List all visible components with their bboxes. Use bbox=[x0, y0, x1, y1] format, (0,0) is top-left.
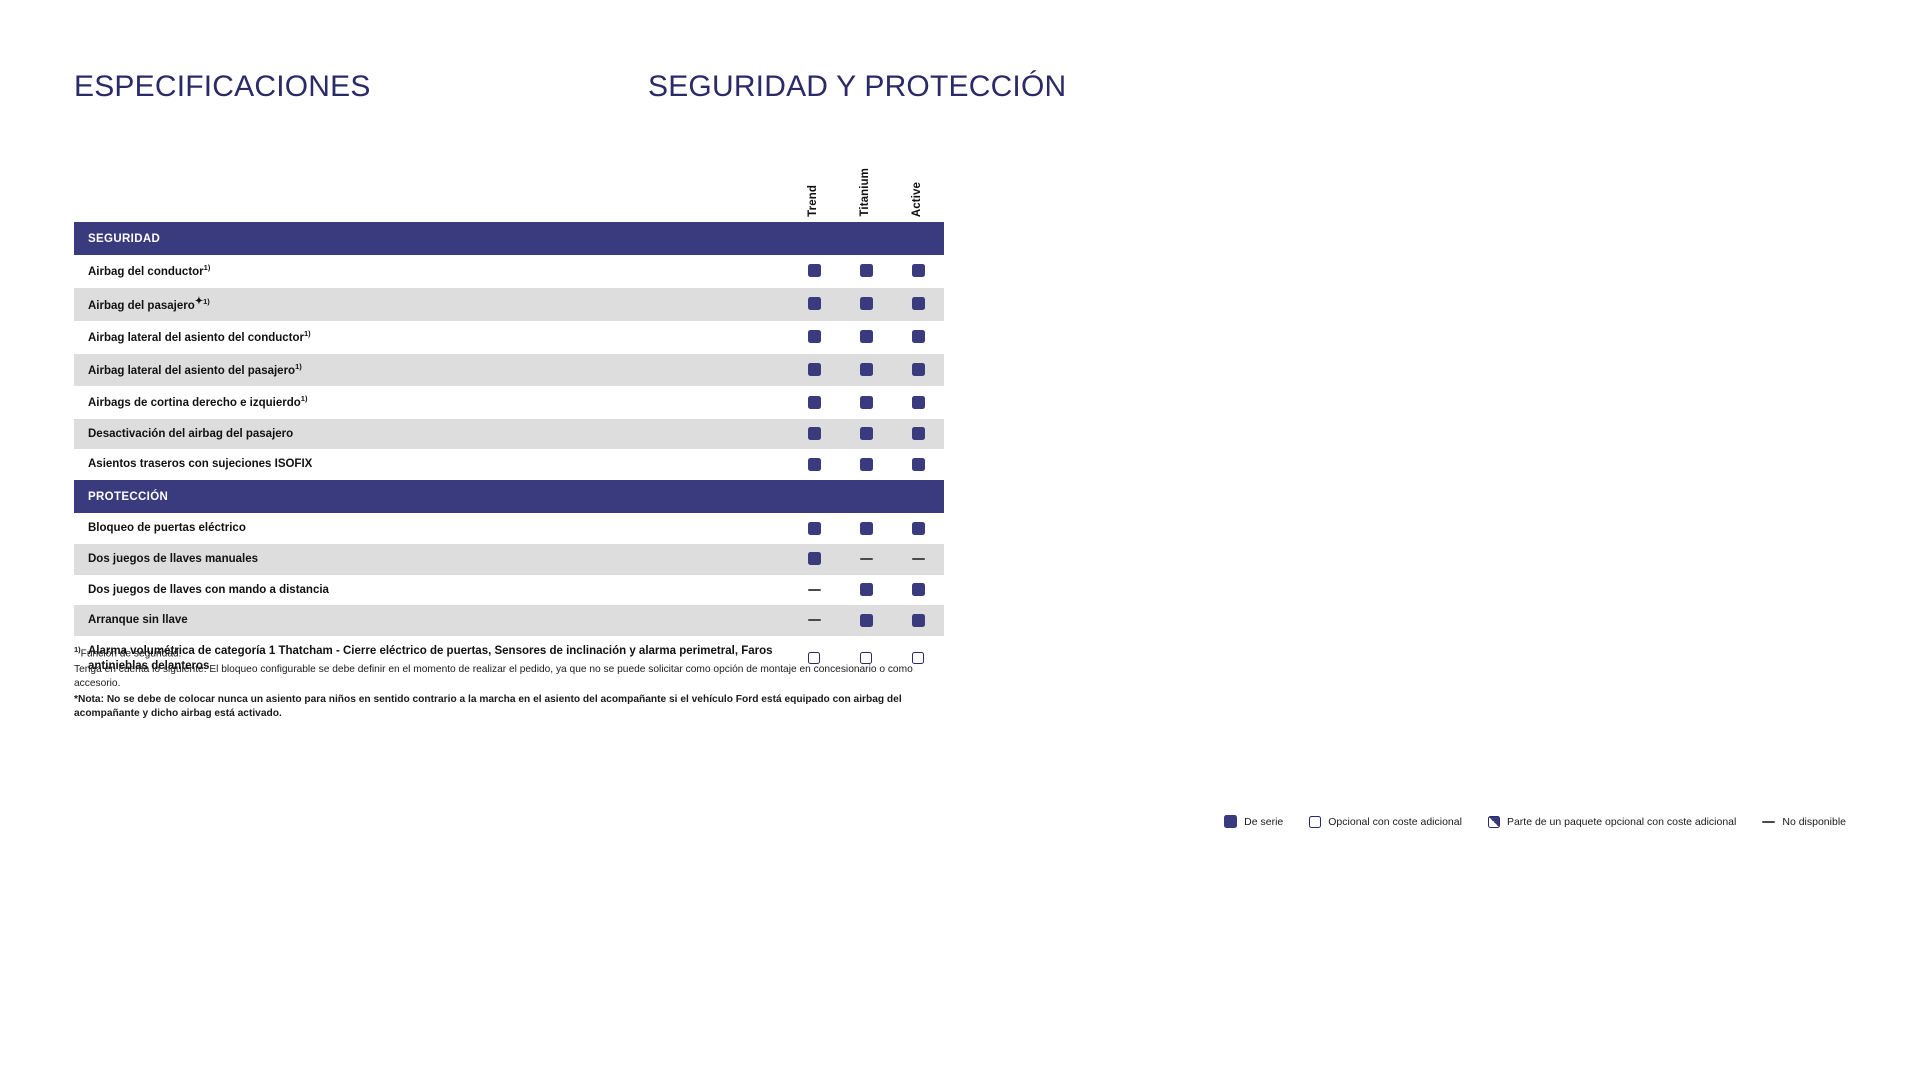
column-label-trend: Trend bbox=[808, 183, 820, 217]
availability-cell bbox=[840, 321, 892, 354]
availability-cell bbox=[788, 354, 840, 387]
availability-cell bbox=[892, 321, 944, 354]
availability-cell bbox=[840, 513, 892, 544]
column-label-titanium: Titanium bbox=[860, 166, 872, 217]
section-header-spacer bbox=[892, 480, 944, 513]
section-header-spacer bbox=[892, 222, 944, 255]
marker-standard-icon bbox=[860, 583, 873, 596]
marker-standard-icon bbox=[912, 614, 925, 627]
trim-column-header: Titanium bbox=[840, 150, 892, 222]
availability-cell bbox=[840, 419, 892, 450]
section-header-spacer bbox=[788, 480, 840, 513]
marker-standard-icon bbox=[808, 458, 821, 471]
availability-cell bbox=[840, 544, 892, 575]
feature-label: Airbag del pasajero✦1) bbox=[74, 288, 788, 322]
section-header-row: SEGURIDAD bbox=[74, 222, 944, 255]
marker-standard-icon bbox=[808, 396, 821, 409]
specification-table: Trend Titanium Active SEGURIDADAirbag de… bbox=[74, 150, 944, 681]
availability-cell bbox=[892, 449, 944, 480]
footnote-child-seat-warning: *Nota: No se debe de colocar nunca un as… bbox=[74, 693, 946, 722]
availability-cell bbox=[892, 605, 944, 636]
marker-standard-icon bbox=[860, 396, 873, 409]
section-header-spacer bbox=[788, 222, 840, 255]
marker-standard-icon bbox=[808, 330, 821, 343]
footnote-ref: 1) bbox=[203, 297, 210, 306]
footnote-configurable-lock: Tenga en cuenta lo siguiente: El bloqueo… bbox=[74, 663, 946, 692]
legend-item: De serie bbox=[1224, 815, 1283, 828]
table-row: Airbag lateral del asiento del pasajero1… bbox=[74, 354, 944, 387]
marker-standard-icon bbox=[912, 264, 925, 277]
marker-standard-icon bbox=[860, 264, 873, 277]
footnote-ref: 1) bbox=[301, 394, 308, 403]
marker-standard-icon bbox=[808, 264, 821, 277]
spec-sheet-page: ESPECIFICACIONES SEGURIDAD Y PROTECCIÓN … bbox=[0, 0, 1920, 1080]
table-head: Trend Titanium Active bbox=[74, 150, 944, 222]
marker-standard-icon bbox=[860, 458, 873, 471]
asterisk-marker: ✦ bbox=[195, 296, 203, 307]
table-row: Desactivación del airbag del pasajero bbox=[74, 419, 944, 450]
marker-standard-icon bbox=[1224, 815, 1237, 828]
availability-cell bbox=[788, 321, 840, 354]
section-header-spacer bbox=[840, 480, 892, 513]
page-title-section: SEGURIDAD Y PROTECCIÓN bbox=[648, 70, 1066, 104]
table-row: Dos juegos de llaves manuales bbox=[74, 544, 944, 575]
legend-item: Parte de un paquete opcional con coste a… bbox=[1488, 816, 1736, 828]
legend-item: Opcional con coste adicional bbox=[1309, 816, 1462, 828]
table-row: Airbag del conductor1) bbox=[74, 255, 944, 288]
availability-cell bbox=[788, 419, 840, 450]
marker-package-icon bbox=[1488, 816, 1500, 828]
feature-label: Airbags de cortina derecho e izquierdo1) bbox=[74, 386, 788, 419]
marker-standard-icon bbox=[912, 363, 925, 376]
availability-cell bbox=[788, 544, 840, 575]
availability-cell bbox=[892, 255, 944, 288]
footnote-ref: 1) bbox=[295, 362, 302, 371]
marker-standard-icon bbox=[912, 522, 925, 535]
legend-label: Parte de un paquete opcional con coste a… bbox=[1507, 816, 1736, 828]
availability-cell bbox=[892, 544, 944, 575]
footnote-ref: 1) bbox=[304, 329, 311, 338]
table-row: Dos juegos de llaves con mando a distanc… bbox=[74, 575, 944, 606]
availability-cell bbox=[892, 575, 944, 606]
marker-standard-icon bbox=[860, 330, 873, 343]
trim-column-header: Trend bbox=[788, 150, 840, 222]
feature-label: Arranque sin llave bbox=[74, 605, 788, 636]
marker-standard-icon bbox=[860, 522, 873, 535]
availability-cell bbox=[892, 354, 944, 387]
availability-cell bbox=[788, 513, 840, 544]
availability-cell bbox=[788, 575, 840, 606]
marker-standard-icon bbox=[808, 427, 821, 440]
marker-standard-icon bbox=[912, 297, 925, 310]
marker-unavailable-icon bbox=[912, 558, 925, 560]
marker-standard-icon bbox=[912, 396, 925, 409]
table-row: Airbag lateral del asiento del conductor… bbox=[74, 321, 944, 354]
availability-cell bbox=[788, 605, 840, 636]
feature-label: Desactivación del airbag del pasajero bbox=[74, 419, 788, 450]
marker-standard-icon bbox=[808, 522, 821, 535]
feature-label: Bloqueo de puertas eléctrico bbox=[74, 513, 788, 544]
availability-cell bbox=[840, 386, 892, 419]
feature-column-header bbox=[74, 150, 788, 222]
page-title-specifications: ESPECIFICACIONES bbox=[74, 70, 371, 104]
legend-label: De serie bbox=[1244, 816, 1283, 828]
availability-cell bbox=[788, 288, 840, 322]
legend: De serieOpcional con coste adicionalPart… bbox=[1224, 815, 1846, 828]
marker-optional-icon bbox=[1309, 816, 1321, 828]
availability-cell bbox=[788, 386, 840, 419]
specification-table-container: Trend Titanium Active SEGURIDADAirbag de… bbox=[74, 150, 944, 681]
footnote-safety-function: 1)Función de seguridad. bbox=[74, 645, 946, 662]
section-header-row: PROTECCIÓN bbox=[74, 480, 944, 513]
section-title: SEGURIDAD bbox=[74, 222, 788, 255]
marker-standard-icon bbox=[860, 363, 873, 376]
availability-cell bbox=[840, 288, 892, 322]
trim-column-header: Active bbox=[892, 150, 944, 222]
marker-standard-icon bbox=[912, 427, 925, 440]
marker-standard-icon bbox=[860, 614, 873, 627]
feature-label: Asientos traseros con sujeciones ISOFIX bbox=[74, 449, 788, 480]
feature-label: Airbag del conductor1) bbox=[74, 255, 788, 288]
table-row: Asientos traseros con sujeciones ISOFIX bbox=[74, 449, 944, 480]
footnote-safety-text: Función de seguridad. bbox=[81, 648, 182, 659]
table-row: Airbag del pasajero✦1) bbox=[74, 288, 944, 322]
availability-cell bbox=[788, 255, 840, 288]
marker-standard-icon bbox=[912, 330, 925, 343]
marker-standard-icon bbox=[860, 297, 873, 310]
feature-label: Dos juegos de llaves manuales bbox=[74, 544, 788, 575]
legend-label: Opcional con coste adicional bbox=[1328, 816, 1462, 828]
marker-unavailable-icon bbox=[1762, 821, 1775, 823]
marker-unavailable-icon bbox=[808, 619, 821, 621]
marker-standard-icon bbox=[912, 583, 925, 596]
table-row: Airbags de cortina derecho e izquierdo1) bbox=[74, 386, 944, 419]
availability-cell bbox=[892, 419, 944, 450]
legend-label: No disponible bbox=[1782, 816, 1846, 828]
marker-standard-icon bbox=[808, 297, 821, 310]
availability-cell bbox=[840, 354, 892, 387]
marker-standard-icon bbox=[860, 427, 873, 440]
section-header-spacer bbox=[840, 222, 892, 255]
feature-label: Dos juegos de llaves con mando a distanc… bbox=[74, 575, 788, 606]
column-header-row: Trend Titanium Active bbox=[74, 150, 944, 222]
marker-standard-icon bbox=[912, 458, 925, 471]
feature-label: Airbag lateral del asiento del conductor… bbox=[74, 321, 788, 354]
availability-cell bbox=[788, 449, 840, 480]
legend-item: No disponible bbox=[1762, 816, 1846, 828]
marker-unavailable-icon bbox=[808, 589, 821, 591]
section-title: PROTECCIÓN bbox=[74, 480, 788, 513]
marker-standard-icon bbox=[808, 552, 821, 565]
table-row: Bloqueo de puertas eléctrico bbox=[74, 513, 944, 544]
table-body: SEGURIDADAirbag del conductor1)Airbag de… bbox=[74, 222, 944, 681]
footnote-marker: 1) bbox=[74, 645, 81, 654]
table-row: Arranque sin llave bbox=[74, 605, 944, 636]
availability-cell bbox=[840, 255, 892, 288]
availability-cell bbox=[892, 386, 944, 419]
footnotes: 1)Función de seguridad. Tenga en cuenta … bbox=[74, 645, 946, 722]
marker-standard-icon bbox=[808, 363, 821, 376]
availability-cell bbox=[892, 513, 944, 544]
availability-cell bbox=[892, 288, 944, 322]
availability-cell bbox=[840, 449, 892, 480]
availability-cell bbox=[840, 605, 892, 636]
column-label-active: Active bbox=[912, 180, 924, 217]
marker-unavailable-icon bbox=[860, 558, 873, 560]
feature-label: Airbag lateral del asiento del pasajero1… bbox=[74, 354, 788, 387]
availability-cell bbox=[840, 575, 892, 606]
footnote-ref: 1) bbox=[204, 263, 211, 272]
